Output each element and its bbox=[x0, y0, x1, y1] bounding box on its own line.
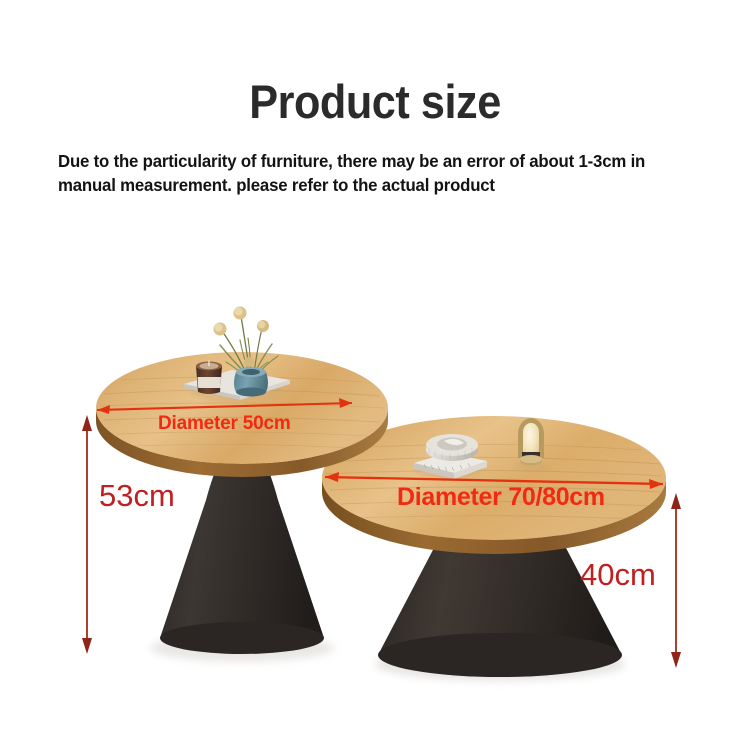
teal-vase-mouth bbox=[242, 369, 260, 375]
teal-vase-foot bbox=[236, 388, 266, 397]
tables-illustration-svg bbox=[0, 0, 750, 745]
small-table-base bbox=[160, 452, 324, 650]
large-height-arrow bbox=[671, 493, 681, 668]
candle-label bbox=[198, 377, 222, 388]
product-size-illustration: Diameter 50cm Diameter 70/80cm 53cm 40cm bbox=[0, 0, 750, 745]
dried-flower-head bbox=[244, 357, 254, 367]
large-table-base-bottom bbox=[378, 633, 622, 677]
large-table-graphic bbox=[322, 416, 666, 681]
candle-wick bbox=[208, 361, 209, 367]
large-table-height-label: 40cm bbox=[580, 557, 656, 593]
small-table-diameter-label: Diameter 50cm bbox=[158, 413, 291, 435]
large-table-diameter-label: Diameter 70/80cm bbox=[397, 483, 605, 512]
small-table-decor-candle bbox=[196, 361, 222, 395]
small-table-height-label: 53cm bbox=[99, 478, 175, 514]
small-height-arrow bbox=[82, 415, 92, 654]
small-table-base-bottom bbox=[160, 622, 324, 654]
